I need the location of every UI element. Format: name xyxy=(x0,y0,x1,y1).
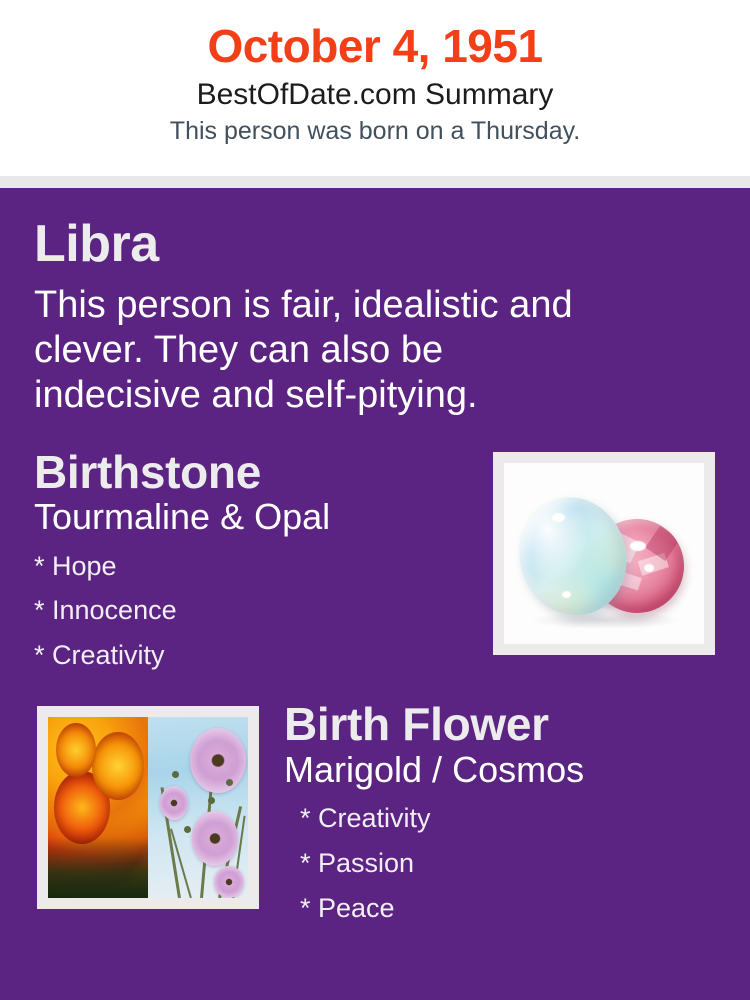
header-divider xyxy=(0,176,750,188)
summary-body: Libra This person is fair, idealistic an… xyxy=(0,188,750,1000)
zodiac-description: This person is fair, idealistic and clev… xyxy=(34,283,614,417)
birthstone-text-block: Birthstone Tourmaline & Opal * Hope * In… xyxy=(34,448,479,678)
site-summary-label: BestOfDate.com Summary xyxy=(0,76,750,114)
birthstone-trait-list: * Hope * Innocence * Creativity xyxy=(34,544,479,678)
birth-flower-value: Marigold / Cosmos xyxy=(284,750,716,790)
birthstone-section: Birthstone Tourmaline & Opal * Hope * In… xyxy=(34,448,716,678)
gemstone-icon xyxy=(504,463,704,644)
list-item: * Hope xyxy=(34,544,479,589)
birth-flower-heading: Birth Flower xyxy=(284,700,716,750)
list-item: * Innocence xyxy=(34,588,479,633)
birthstone-heading: Birthstone xyxy=(34,448,479,498)
page-header: October 4, 1951 BestOfDate.com Summary T… xyxy=(0,0,750,176)
birthstone-value: Tourmaline & Opal xyxy=(34,497,479,537)
birth-flower-trait-list: * Creativity * Passion * Peace xyxy=(300,796,716,930)
zodiac-sign-name: Libra xyxy=(34,216,716,273)
birth-weekday-note: This person was born on a Thursday. xyxy=(0,116,750,147)
zodiac-section: Libra This person is fair, idealistic an… xyxy=(34,188,716,418)
list-item: * Passion xyxy=(300,841,716,886)
page-title: October 4, 1951 xyxy=(0,22,750,70)
birthstone-image-frame xyxy=(493,452,715,655)
flower-photo-icon xyxy=(48,717,248,898)
birth-flower-text-block: Birth Flower Marigold / Cosmos * Creativ… xyxy=(284,700,716,930)
list-item: * Creativity xyxy=(300,796,716,841)
birth-flower-section: Birth Flower Marigold / Cosmos * Creativ… xyxy=(34,700,716,930)
list-item: * Peace xyxy=(300,886,716,931)
gem-shadow xyxy=(532,611,680,629)
marigold-icon xyxy=(48,717,148,898)
list-item: * Creativity xyxy=(34,633,479,678)
cosmos-icon xyxy=(148,717,248,898)
birth-flower-image-frame xyxy=(37,706,259,909)
